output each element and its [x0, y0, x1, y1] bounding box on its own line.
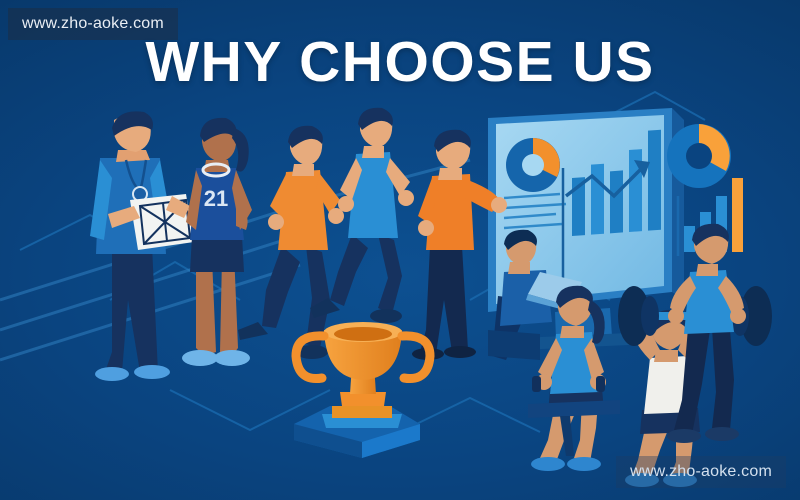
illustration-canvas: 21	[0, 0, 800, 500]
screen-donut-chart	[506, 138, 560, 192]
watermark-bottom-right: www.zho-aoke.com	[616, 456, 786, 488]
watermark-top-left: www.zho-aoke.com	[8, 8, 178, 40]
figure-coach-with-clipboard	[90, 111, 194, 381]
page-title: WHY CHOOSE US	[0, 34, 800, 91]
right-donut-chart	[667, 124, 731, 188]
figure-runner-orange	[238, 126, 344, 359]
jersey-number: 21	[204, 186, 228, 211]
